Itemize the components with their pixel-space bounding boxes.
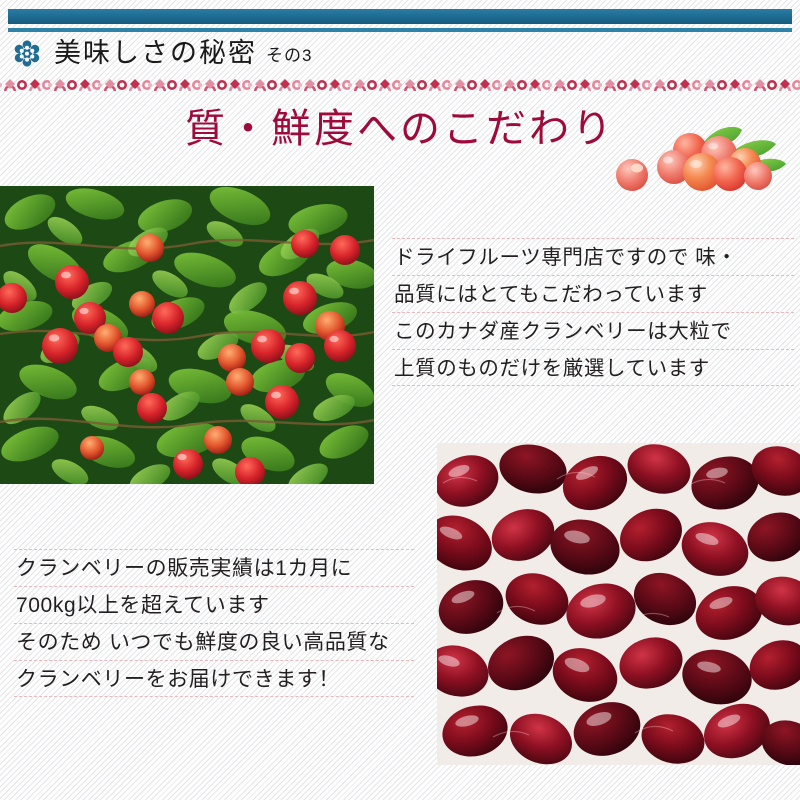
sales-record-text: クランベリーの販売実績は1カ月に 700kg以上を超えています そのため いつで… (14, 549, 414, 697)
cranberry-cluster-illustration (612, 112, 798, 198)
top-rule-thin (8, 28, 792, 32)
text-line: クランベリーの販売実績は1カ月に (14, 549, 414, 586)
product-feature-page: 美味しさの秘密 その3 (0, 0, 800, 800)
section-header: 美味しさの秘密 その3 (0, 34, 800, 72)
text-line-content: ドライフルーツ専門店ですので 味・ (392, 239, 794, 276)
dried-cranberry-photo (437, 443, 800, 765)
text-line-content: クランベリーをお届けできます！ (14, 661, 414, 698)
ornament-band (0, 76, 800, 96)
text-line: 700kg以上を超えています (14, 586, 414, 623)
text-line: クランベリーをお届けできます！ (14, 660, 414, 697)
flower-rosette-icon (13, 39, 41, 67)
text-line-content: そのため いつでも鮮度の良い高品質な (14, 624, 414, 661)
text-line-content: クランベリーの販売実績は1カ月に (14, 550, 414, 587)
header-subtitle: その3 (266, 41, 312, 66)
header-title: 美味しさの秘密 (54, 40, 257, 67)
text-line: このカナダ産クランベリーは大粒で (392, 312, 794, 349)
top-rule-thick (8, 9, 792, 24)
text-line: ドライフルーツ専門店ですので 味・ (392, 238, 794, 275)
quality-description-text: ドライフルーツ専門店ですので 味・ 品質にはとてもこだわっています このカナダ産… (392, 238, 794, 386)
text-line-content: 700kg以上を超えています (14, 587, 414, 624)
text-line: そのため いつでも鮮度の良い高品質な (14, 623, 414, 660)
text-line-content: 品質にはとてもこだわっています (392, 276, 794, 313)
text-line: 品質にはとてもこだわっています (392, 275, 794, 312)
text-line: 上質のものだけを厳選しています (392, 349, 794, 386)
text-line-content: このカナダ産クランベリーは大粒で (392, 313, 794, 350)
cranberry-bush-photo (0, 186, 374, 484)
text-line-content: 上質のものだけを厳選しています (392, 350, 794, 387)
